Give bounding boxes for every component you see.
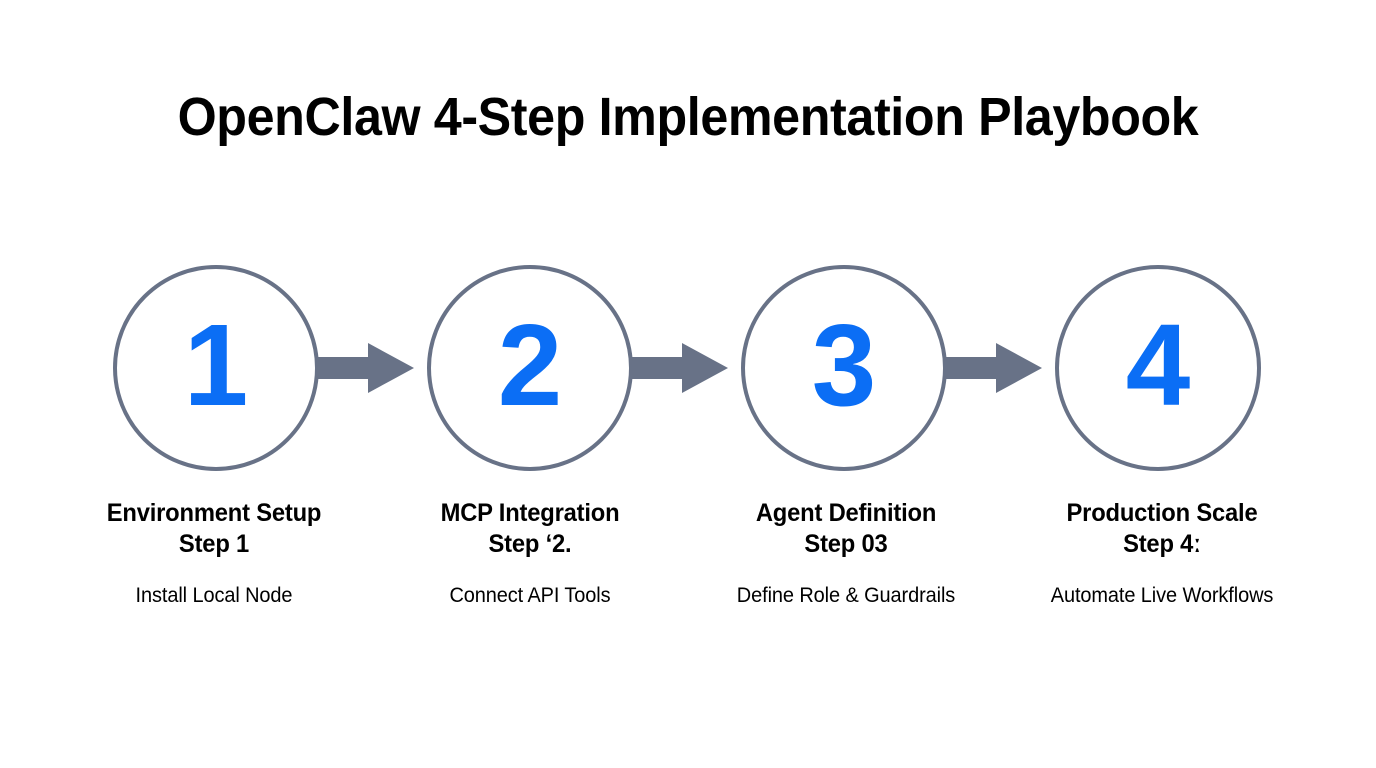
step-heading: Agent Definition [704,498,989,529]
step-heading: MCP Integration [388,498,673,529]
step-caption-1: Environment Setup Step 1 Install Local N… [56,498,372,611]
playbook-slide: OpenClaw 4-Step Implementation Playbook … [0,0,1376,768]
step-description: Connect API Tools [388,581,673,611]
step-heading: Environment Setup [72,498,357,529]
step-caption-4: Production Scale Step 4ː Automate Live W… [1004,498,1320,611]
process-flow: 1 2 3 4 [88,265,1288,475]
step-number: 3 [741,265,947,471]
step-heading: Production Scale [1020,498,1305,529]
step-description: Automate Live Workflows [1020,581,1305,611]
page-title: OpenClaw 4-Step Implementation Playbook [48,88,1328,147]
step-captions: Environment Setup Step 1 Install Local N… [56,498,1320,611]
step-description: Install Local Node [72,581,357,611]
step-description: Define Role & Guardrails [704,581,989,611]
step-caption-3: Agent Definition Step 03 Define Role & G… [688,498,1004,611]
step-label: Step 4ː [1020,529,1305,560]
step-label: Step 1 [72,529,357,560]
step-caption-2: MCP Integration Step ‘2. Connect API Too… [372,498,688,611]
step-number: 1 [113,265,319,471]
step-number: 2 [427,265,633,471]
step-node-1[interactable]: 1 [113,265,319,471]
step-node-2[interactable]: 2 [427,265,633,471]
step-number: 4 [1055,265,1261,471]
arrow-right-icon [934,343,1042,393]
step-node-4[interactable]: 4 [1055,265,1261,471]
arrow-right-icon [306,343,414,393]
step-node-3[interactable]: 3 [741,265,947,471]
arrow-right-icon [620,343,728,393]
step-label: Step ‘2. [388,529,673,560]
step-label: Step 03 [704,529,989,560]
